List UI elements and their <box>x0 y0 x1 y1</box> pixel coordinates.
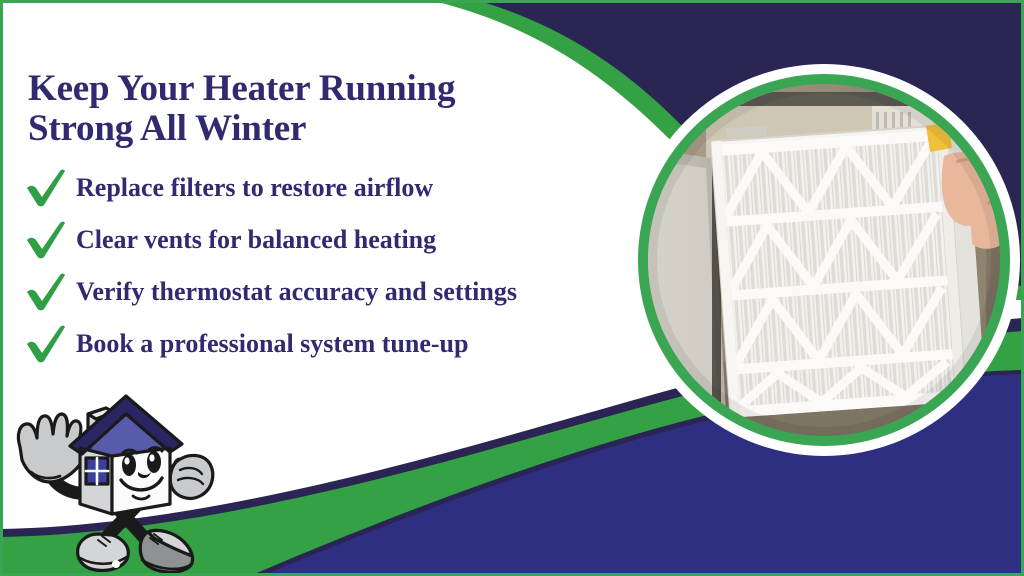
list-item: Book a professional system tune-up <box>24 318 634 370</box>
green-check-icon <box>24 324 68 364</box>
list-item: Replace filters to restore airflow <box>24 162 634 214</box>
green-check-icon <box>24 220 68 260</box>
mascot-window <box>86 458 108 484</box>
mascot-illustration <box>2 392 228 576</box>
title-line-2: Strong All Winter <box>28 109 558 149</box>
green-check-icon <box>24 168 68 208</box>
photo-content <box>626 62 1022 458</box>
list-item: Clear vents for balanced heating <box>24 214 634 266</box>
page-title: Keep Your Heater Running Strong All Wint… <box>28 69 558 149</box>
mascot-fist-hand <box>170 455 213 498</box>
green-check-icon <box>24 272 68 312</box>
list-item: Verify thermostat accuracy and settings <box>24 266 634 318</box>
banner-canvas: Keep Your Heater Running Strong All Wint… <box>0 0 1024 576</box>
hvac-air-filter-photo <box>626 62 1022 458</box>
mascot-shoe-right <box>140 530 192 572</box>
photo-circle <box>626 62 1022 458</box>
list-item-label: Book a professional system tune-up <box>76 331 468 357</box>
mascot-shoe-left <box>78 534 129 570</box>
checklist: Replace filters to restore airflow Clear… <box>24 162 634 370</box>
walking-house-mascot <box>2 392 228 576</box>
title-line-1: Keep Your Heater Running <box>28 68 455 109</box>
list-item-label: Verify thermostat accuracy and settings <box>76 279 517 305</box>
list-item-label: Replace filters to restore airflow <box>76 175 433 201</box>
list-item-label: Clear vents for balanced heating <box>76 227 436 253</box>
